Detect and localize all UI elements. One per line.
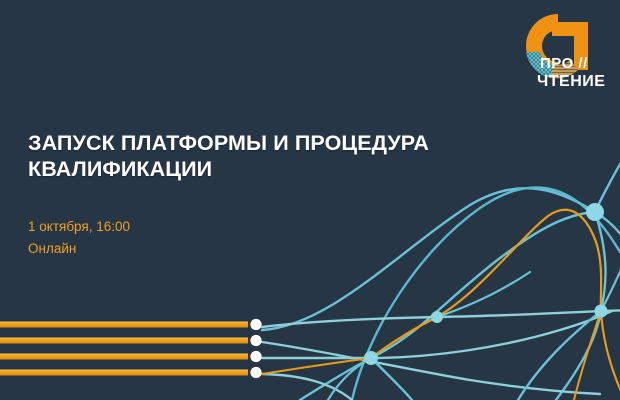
rail-dot-3 [250,351,261,362]
rail-dot-4 [250,367,261,378]
logo-prochtenie[interactable]: ПРО // ЧТЕНИЕ [500,8,612,96]
rail-end-dots [250,319,261,378]
logo-text-line1: ПРО // [540,55,588,72]
event-meta: 1 октября, 16:00 Онлайн [28,216,498,260]
rail-lines [0,322,248,376]
event-format: Онлайн [28,238,498,260]
rail-line-1 [0,322,248,328]
rail-line-3 [0,354,248,360]
rail-dot-2 [250,335,261,346]
page-title: ЗАПУСК ПЛАТФОРМЫ И ПРОЦЕДУРА КВАЛИФИКАЦИ… [28,130,498,182]
event-datetime: 1 октября, 16:00 [28,216,498,238]
rail-line-4 [0,370,248,376]
text-content-block: ЗАПУСК ПЛАТФОРМЫ И ПРОЦЕДУРА КВАЛИФИКАЦИ… [28,130,498,260]
logo-text-line2: ЧТЕНИЕ [537,73,605,90]
rail-dot-1 [250,319,261,330]
rail-line-2 [0,338,248,344]
promo-banner: ЗАПУСК ПЛАТФОРМЫ И ПРОЦЕДУРА КВАЛИФИКАЦИ… [0,0,620,400]
